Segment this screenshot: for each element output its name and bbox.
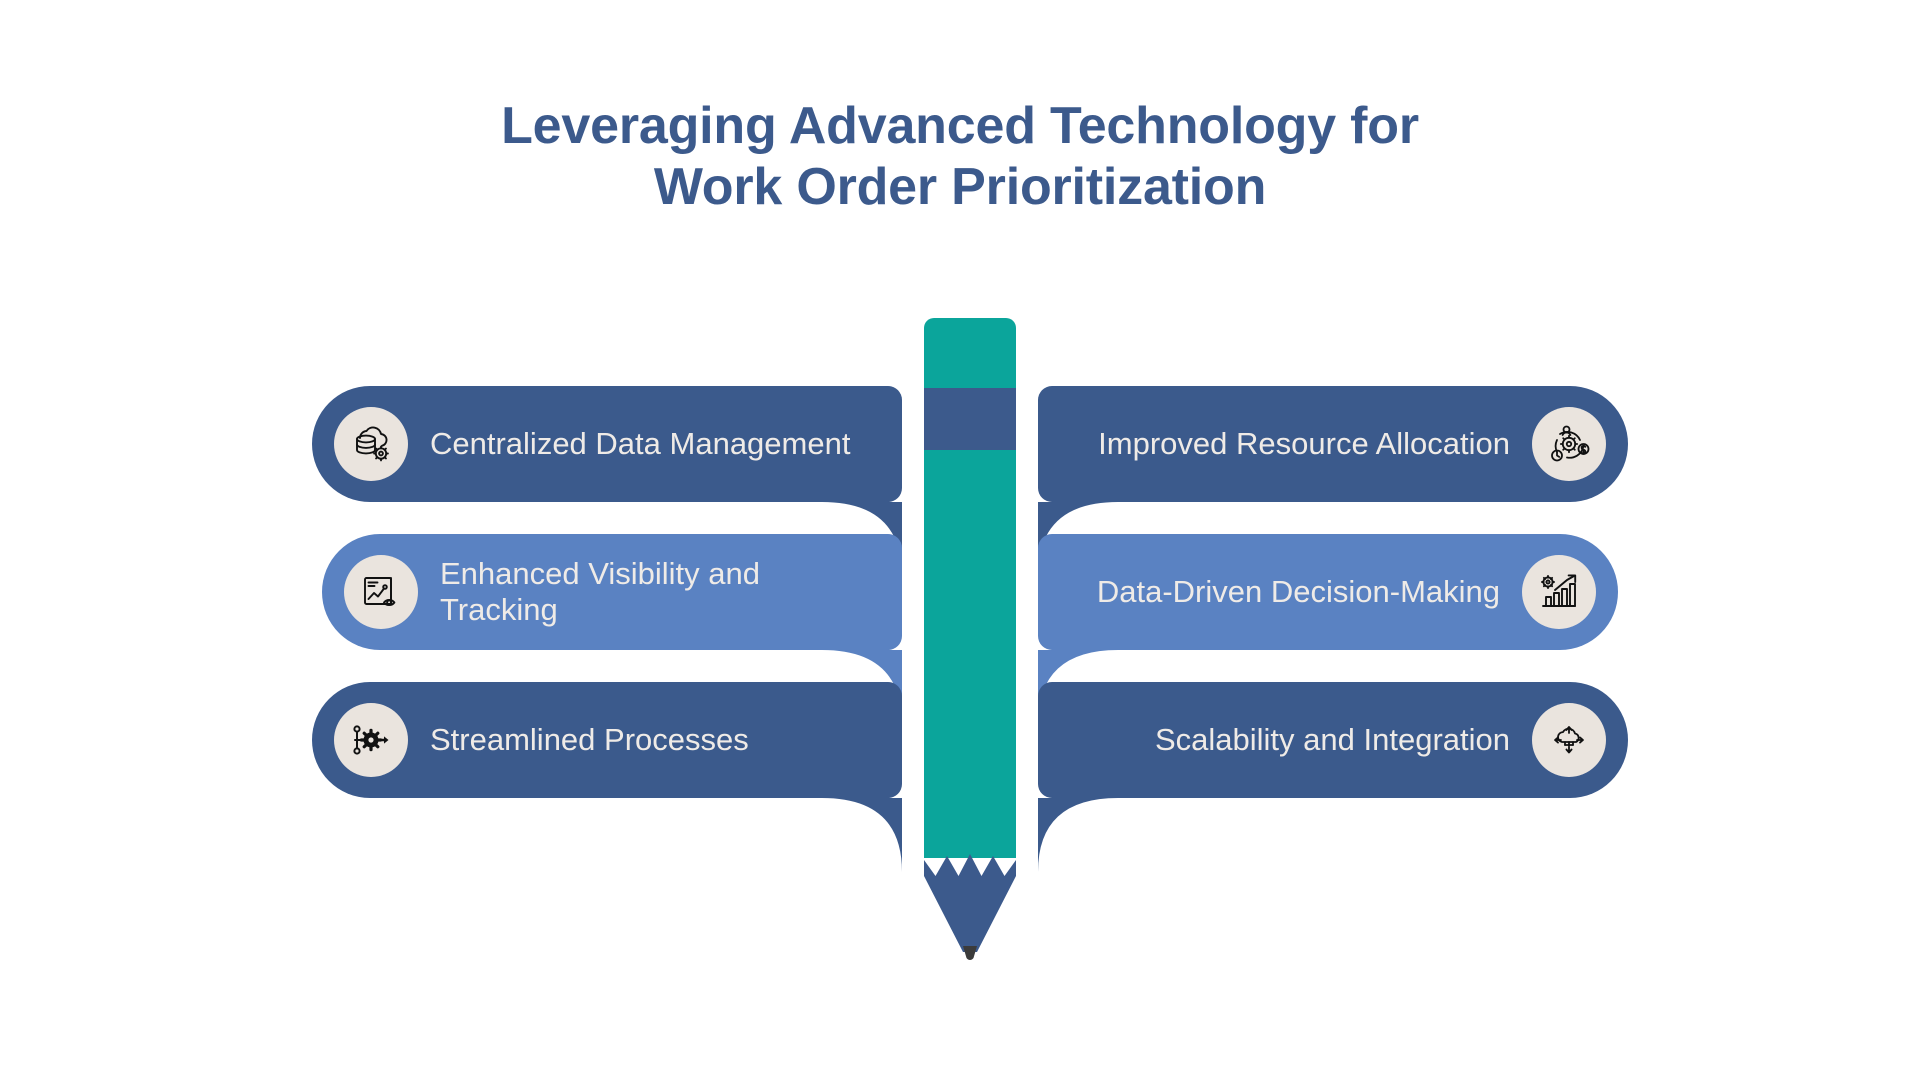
right-item-label-2: Data-Driven Decision-Making [1097, 574, 1500, 610]
cloud-database-gear-icon [334, 407, 408, 481]
left-item-label-2: Enhanced Visibility and Tracking [440, 556, 868, 629]
resource-gear-person-clock-dollar-icon [1532, 407, 1606, 481]
gear-workflow-arrow-icon [334, 703, 408, 777]
right-bar-2[interactable]: Data-Driven Decision-Making [1038, 534, 1618, 650]
left-bar-2[interactable]: Enhanced Visibility and Tracking [322, 534, 902, 650]
pencil-ferrule-band [924, 388, 1016, 450]
left-item-row-3: Streamlined Processes [312, 682, 902, 798]
right-item-row-3: Scalability and Integration [1038, 682, 1628, 798]
right-bar-1[interactable]: Improved Resource Allocation [1038, 386, 1628, 502]
cloud-four-direction-arrows-icon [1532, 703, 1606, 777]
bar-chart-gear-arrow-icon [1522, 555, 1596, 629]
left-item-row-2: Enhanced Visibility and Tracking [322, 534, 902, 650]
pencil-graphic [924, 318, 1016, 968]
pencil-tip [924, 846, 1016, 968]
left-item-row-1: Centralized Data Management [312, 386, 902, 502]
right-tail-3 [1038, 798, 1118, 872]
right-item-label-3: Scalability and Integration [1155, 722, 1510, 758]
left-bar-1[interactable]: Centralized Data Management [312, 386, 902, 502]
left-item-label-1: Centralized Data Management [430, 426, 850, 462]
left-tail-3 [822, 798, 902, 872]
right-bar-3[interactable]: Scalability and Integration [1038, 682, 1628, 798]
right-item-row-1: Improved Resource Allocation [1038, 386, 1628, 502]
right-item-row-2: Data-Driven Decision-Making [1038, 534, 1618, 650]
right-item-label-1: Improved Resource Allocation [1098, 426, 1510, 462]
chart-eye-tracking-icon [344, 555, 418, 629]
infographic-diagram: Centralized Data Management Enha [0, 0, 1920, 1080]
left-bar-3[interactable]: Streamlined Processes [312, 682, 902, 798]
left-item-label-3: Streamlined Processes [430, 722, 749, 758]
